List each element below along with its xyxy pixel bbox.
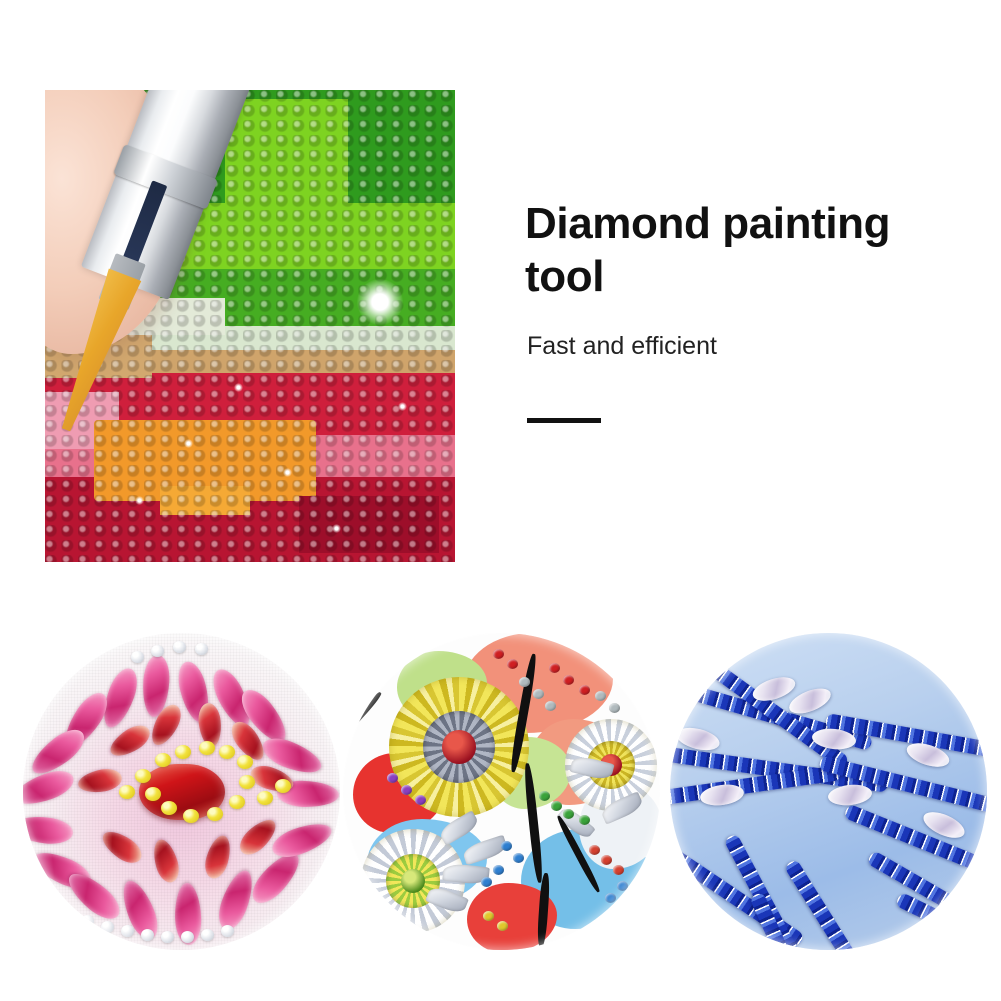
- purple-bead: [387, 773, 398, 783]
- green-bead: [551, 801, 562, 811]
- silver-bead: [519, 677, 530, 687]
- red-bead: [589, 845, 600, 855]
- blue-bead: [605, 893, 616, 903]
- green-bead: [539, 791, 550, 801]
- silver-bead: [609, 703, 620, 713]
- page-title: Diamond painting tool: [525, 198, 955, 304]
- clear-border-bead: [201, 929, 214, 941]
- yellow-sunflower-motif: [389, 677, 529, 817]
- gallery-item-blue-starry-swirls[interactable]: [670, 633, 987, 950]
- clear-border-bead: [221, 925, 234, 937]
- red-bead: [579, 685, 590, 695]
- gallery-item-floral-mandala[interactable]: [343, 633, 660, 950]
- blue-bead: [501, 841, 512, 851]
- sunflower-core: [442, 730, 476, 764]
- silver-bead: [545, 701, 556, 711]
- pink-flower-closeup-image: [23, 633, 340, 950]
- yellow-accent-bead: [155, 753, 171, 767]
- silver-bead: [595, 691, 606, 701]
- purple-bead: [415, 795, 426, 805]
- yellow-bead: [497, 921, 508, 931]
- yellow-accent-bead: [175, 745, 191, 759]
- silver-bead: [533, 689, 544, 699]
- blue-bead: [617, 881, 628, 891]
- yellow-accent-bead: [161, 801, 177, 815]
- hero-product-photo: [45, 90, 455, 562]
- yellow-accent-bead: [119, 785, 135, 799]
- page-subtitle: Fast and efficient: [527, 330, 955, 363]
- yellow-accent-bead: [135, 769, 151, 783]
- red-bead: [507, 659, 518, 669]
- yellow-accent-bead: [257, 791, 273, 805]
- red-bead: [493, 649, 504, 659]
- red-bead: [549, 663, 560, 673]
- yellow-accent-bead: [183, 809, 199, 823]
- gallery-item-pink-rhinestone-flower[interactable]: [23, 633, 340, 950]
- blue-bead: [513, 853, 524, 863]
- clear-border-bead: [181, 931, 194, 943]
- yellow-accent-bead: [275, 779, 291, 793]
- purple-bead: [401, 785, 412, 795]
- green-bead: [563, 809, 574, 819]
- yellow-accent-bead: [237, 755, 253, 769]
- blue-bead: [493, 865, 504, 875]
- clear-border-bead: [131, 651, 144, 663]
- yellow-accent-bead: [219, 745, 235, 759]
- clear-border-bead: [141, 929, 154, 941]
- yellow-accent-bead: [239, 775, 255, 789]
- clear-border-bead: [81, 915, 94, 927]
- yellow-accent-bead: [207, 807, 223, 821]
- clear-border-bead: [101, 921, 114, 933]
- yellow-accent-bead: [199, 741, 215, 755]
- clear-border-bead: [195, 643, 208, 655]
- red-bead: [563, 675, 574, 685]
- hero-photo-stage: [45, 90, 455, 562]
- clear-border-bead: [151, 645, 164, 657]
- blue-swirls-closeup-image: [670, 633, 987, 950]
- title-divider-rule: [527, 418, 601, 423]
- yellow-accent-bead: [229, 795, 245, 809]
- hero-text-block: Diamond painting tool Fast and efficient: [525, 198, 955, 423]
- yellow-bead: [483, 911, 494, 921]
- yellow-accent-bead: [145, 787, 161, 801]
- green-bead: [579, 815, 590, 825]
- floral-mandala-closeup-image: [343, 633, 660, 950]
- gallery-circle-row: [0, 633, 1001, 953]
- clear-border-bead: [121, 925, 134, 937]
- clear-border-bead: [161, 931, 174, 943]
- blue-bead: [481, 877, 492, 887]
- red-bead: [601, 855, 612, 865]
- red-bead: [613, 865, 624, 875]
- clear-border-bead: [173, 641, 186, 653]
